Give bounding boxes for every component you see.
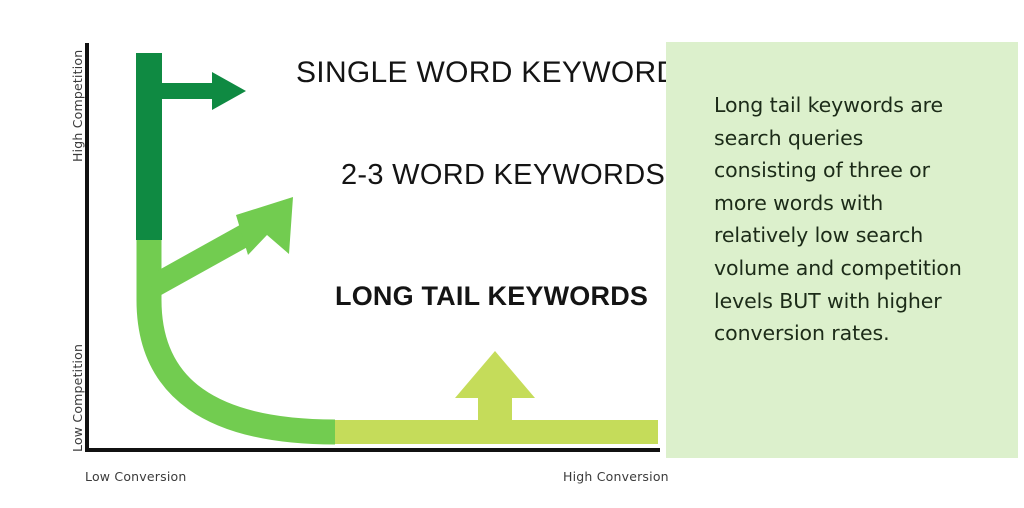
two-three-word-arrow-icon — [152, 197, 293, 287]
tier-label-single-word: SINGLE WORD KEYWORDS — [296, 56, 699, 90]
single-word-arrow-icon — [155, 72, 246, 110]
long-tail-arrow-icon — [455, 351, 535, 432]
x-axis-high-label: High Conversion — [563, 469, 669, 484]
description-panel-text: Long tail keywords are search queries co… — [714, 89, 972, 350]
tier-label-two-three-word: 2-3 WORD KEYWORDS — [341, 159, 665, 192]
curve-segment-single-word — [136, 53, 162, 240]
tier-label-long-tail: LONG TAIL KEYWORDS — [335, 281, 648, 312]
y-axis-high-label: High Competition — [70, 50, 85, 162]
x-axis-low-label: Low Conversion — [85, 469, 186, 484]
y-axis-low-label: Low Competition — [70, 344, 85, 452]
infographic-canvas: High Competition Low Competition Low Con… — [0, 0, 1024, 508]
description-panel: Long tail keywords are search queries co… — [666, 42, 1018, 458]
